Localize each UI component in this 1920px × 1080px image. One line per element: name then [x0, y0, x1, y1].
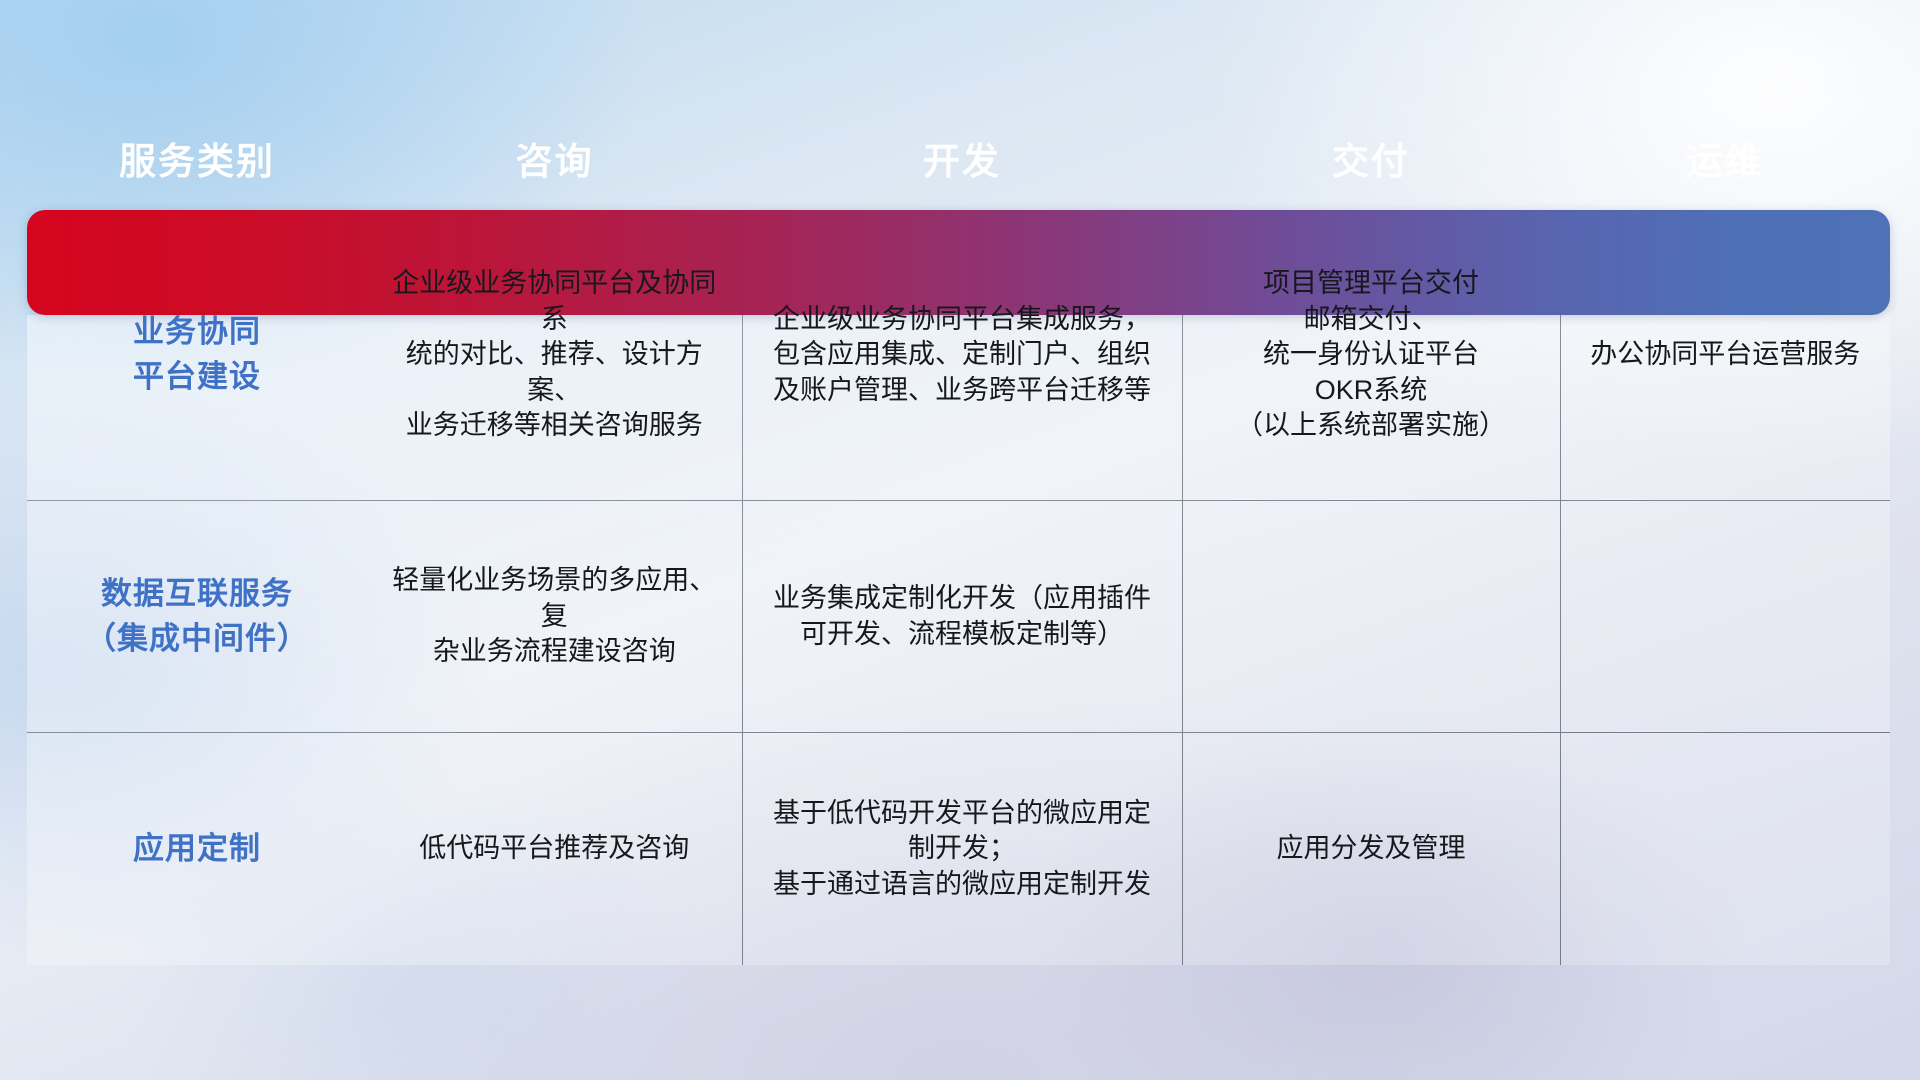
cell-delivery-row1: 项目管理平台交付 邮箱交付、 统一身份认证平台 OKR系统 （以上系统部署实施） [1182, 210, 1560, 500]
cell-operations-row1: 办公协同平台运营服务 [1560, 210, 1890, 500]
header-operations: 运维 [1560, 105, 1890, 210]
table-row: 数据互联服务 （集成中间件） 轻量化业务场景的多应用、复 杂业务流程建设咨询 业… [27, 500, 1890, 732]
cell-development-row1: 企业级业务协同平台集成服务， 包含应用集成、定制门户、组织 及账户管理、业务跨平… [742, 210, 1182, 500]
cell-consulting-row3: 低代码平台推荐及咨询 [367, 733, 742, 965]
cell-consulting-row2: 轻量化业务场景的多应用、复 杂业务流程建设咨询 [367, 500, 742, 732]
header-service-category: 服务类别 [27, 105, 367, 210]
service-matrix: 服务类别 咨询 开发 交付 运维 业务协同 平台建设 企业级业务协同平台及协同系… [27, 105, 1890, 965]
table-row: 应用定制 低代码平台推荐及咨询 基于低代码开发平台的微应用定 制开发； 基于通过… [27, 733, 1890, 965]
cell-operations-row2 [1560, 500, 1890, 732]
cell-category-row3: 应用定制 [27, 733, 367, 965]
table-row: 业务协同 平台建设 企业级业务协同平台及协同系 统的对比、推荐、设计方案、 业务… [27, 210, 1890, 500]
cell-development-row3: 基于低代码开发平台的微应用定 制开发； 基于通过语言的微应用定制开发 [742, 733, 1182, 965]
cell-category-row2: 数据互联服务 （集成中间件） [27, 500, 367, 732]
table-body: 业务协同 平台建设 企业级业务协同平台及协同系 统的对比、推荐、设计方案、 业务… [27, 210, 1890, 965]
cell-development-row2: 业务集成定制化开发（应用插件 可开发、流程模板定制等） [742, 500, 1182, 732]
header-delivery: 交付 [1182, 105, 1560, 210]
cell-consulting-row1: 企业级业务协同平台及协同系 统的对比、推荐、设计方案、 业务迁移等相关咨询服务 [367, 210, 742, 500]
cell-delivery-row2 [1182, 500, 1560, 732]
table-header-row: 服务类别 咨询 开发 交付 运维 [27, 105, 1890, 210]
cell-category-row1: 业务协同 平台建设 [27, 210, 367, 500]
header-consulting: 咨询 [367, 105, 742, 210]
header-development: 开发 [742, 105, 1182, 210]
cell-operations-row3 [1560, 733, 1890, 965]
cell-delivery-row3: 应用分发及管理 [1182, 733, 1560, 965]
service-matrix-table: 服务类别 咨询 开发 交付 运维 业务协同 平台建设 企业级业务协同平台及协同系… [27, 105, 1890, 965]
